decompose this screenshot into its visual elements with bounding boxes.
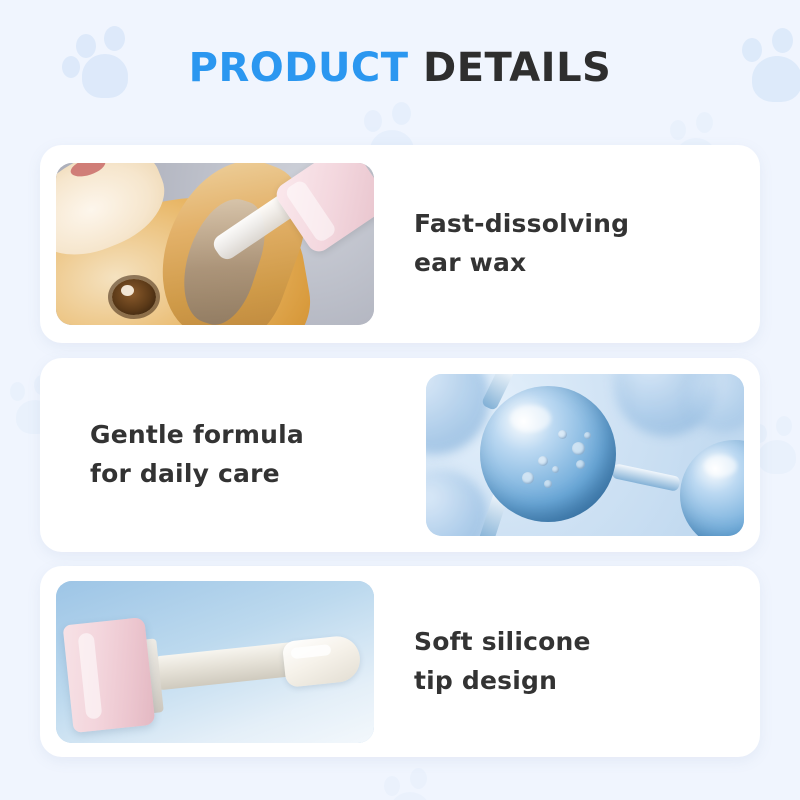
- feature-caption-line2: tip design: [414, 662, 742, 701]
- corgi-ear-drop-photo: [56, 163, 374, 325]
- page-title-rest: DETAILS: [423, 45, 611, 91]
- feature-caption-line1: Fast-dissolving: [414, 209, 629, 238]
- feature-caption-line2: ear wax: [414, 244, 742, 283]
- feature-card-fast-dissolving: Fast-dissolving ear wax: [40, 145, 760, 343]
- feature-caption: Soft silicone tip design: [390, 623, 760, 701]
- silicone-dropper-photo: [56, 581, 374, 743]
- feature-caption: Gentle formula for daily care: [40, 416, 410, 494]
- page-title-highlight: PRODUCT: [189, 45, 409, 91]
- feature-caption-line2: for daily care: [90, 455, 392, 494]
- feature-card-soft-silicone-tip: Soft silicone tip design: [40, 566, 760, 757]
- feature-caption-line1: Gentle formula: [90, 420, 304, 449]
- paw-print-icon: [374, 766, 444, 800]
- feature-card-gentle-formula: Gentle formula for daily care: [40, 358, 760, 552]
- molecule-formula-photo: [426, 374, 744, 536]
- page-title: PRODUCT DETAILS: [0, 48, 800, 88]
- feature-caption-line1: Soft silicone: [414, 627, 591, 656]
- feature-caption: Fast-dissolving ear wax: [390, 205, 760, 283]
